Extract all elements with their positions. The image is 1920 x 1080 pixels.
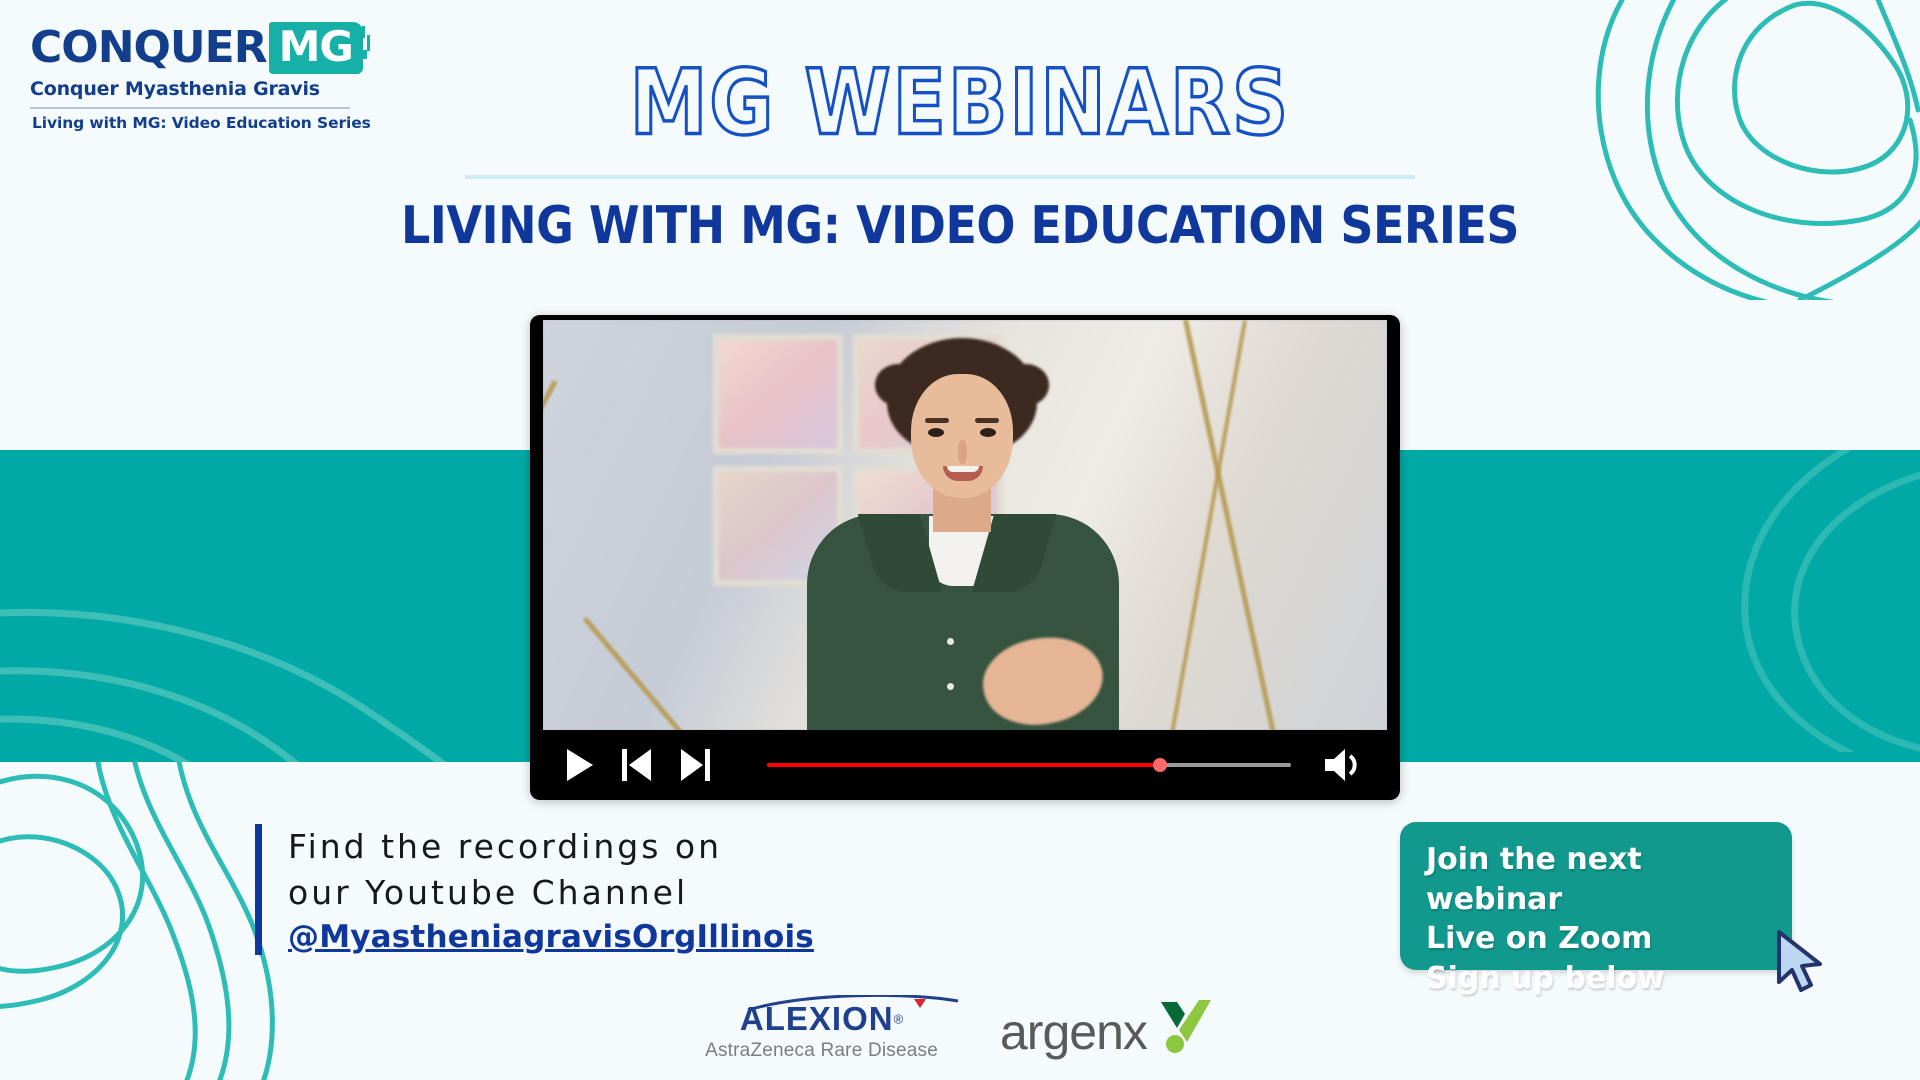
sponsor-logos: ALEXION® AstraZeneca Rare Disease argenx [0, 1002, 1920, 1062]
shirt-button-1 [947, 638, 954, 645]
alexion-logo: ALEXION® AstraZeneca Rare Disease [705, 1002, 938, 1062]
next-button[interactable] [679, 748, 711, 782]
progress-fill [767, 763, 1160, 767]
eyebrow-left [925, 418, 949, 423]
accent-bar [255, 824, 262, 955]
youtube-callout: Find the recordings on our Youtube Chann… [255, 824, 814, 955]
page-subtitle: LIVING WITH MG: VIDEO EDUCATION SERIES [0, 195, 1920, 255]
youtube-text-group: Find the recordings on our Youtube Chann… [288, 824, 814, 955]
video-frame[interactable] [543, 320, 1387, 730]
callout-line-2: Live on Zoom [1426, 919, 1766, 959]
eyebrow-right [975, 418, 999, 423]
alexion-trademark: ® [894, 1012, 904, 1027]
youtube-line-1: Find the recordings on [288, 824, 814, 870]
page-title: MG WEBINARS [0, 52, 1920, 156]
callout-line-1: Join the next webinar [1426, 840, 1766, 919]
previous-button[interactable] [621, 748, 653, 782]
argenx-name: argenx [1000, 1007, 1147, 1057]
youtube-channel-link[interactable]: @MyastheniagravisOrgIllinois [288, 919, 814, 955]
progress-bar[interactable] [767, 755, 1291, 775]
nose [958, 440, 967, 464]
title-divider [465, 175, 1415, 179]
mouth [943, 466, 983, 481]
wall-art-1 [713, 334, 843, 454]
alexion-name: ALEXION [740, 1000, 894, 1037]
video-player[interactable] [530, 315, 1400, 800]
progress-handle[interactable] [1153, 758, 1167, 772]
mouse-cursor-icon [1775, 930, 1827, 996]
youtube-line-2: our Youtube Channel [288, 870, 814, 916]
shirt-button-2 [947, 683, 954, 690]
band-contour-decoration [0, 456, 560, 762]
skip-back-icon [621, 748, 653, 782]
band-contour-decoration-right [1490, 450, 1920, 752]
argenx-logo: argenx [1000, 1007, 1215, 1057]
join-webinar-callout[interactable]: Join the next webinar Live on Zoom Sign … [1400, 822, 1792, 970]
volume-button[interactable] [1321, 747, 1365, 783]
player-controls[interactable] [543, 730, 1387, 800]
skip-forward-icon [679, 748, 711, 782]
callout-line-3: Sign up below [1426, 959, 1766, 999]
alexion-subtitle: AstraZeneca Rare Disease [705, 1040, 938, 1062]
presenter-face [911, 374, 1013, 498]
play-icon [565, 748, 595, 782]
volume-icon [1321, 747, 1365, 783]
eye-left [928, 428, 944, 437]
argenx-checkmark-icon [1155, 998, 1215, 1056]
play-button[interactable] [565, 748, 595, 782]
eye-right [980, 428, 996, 437]
